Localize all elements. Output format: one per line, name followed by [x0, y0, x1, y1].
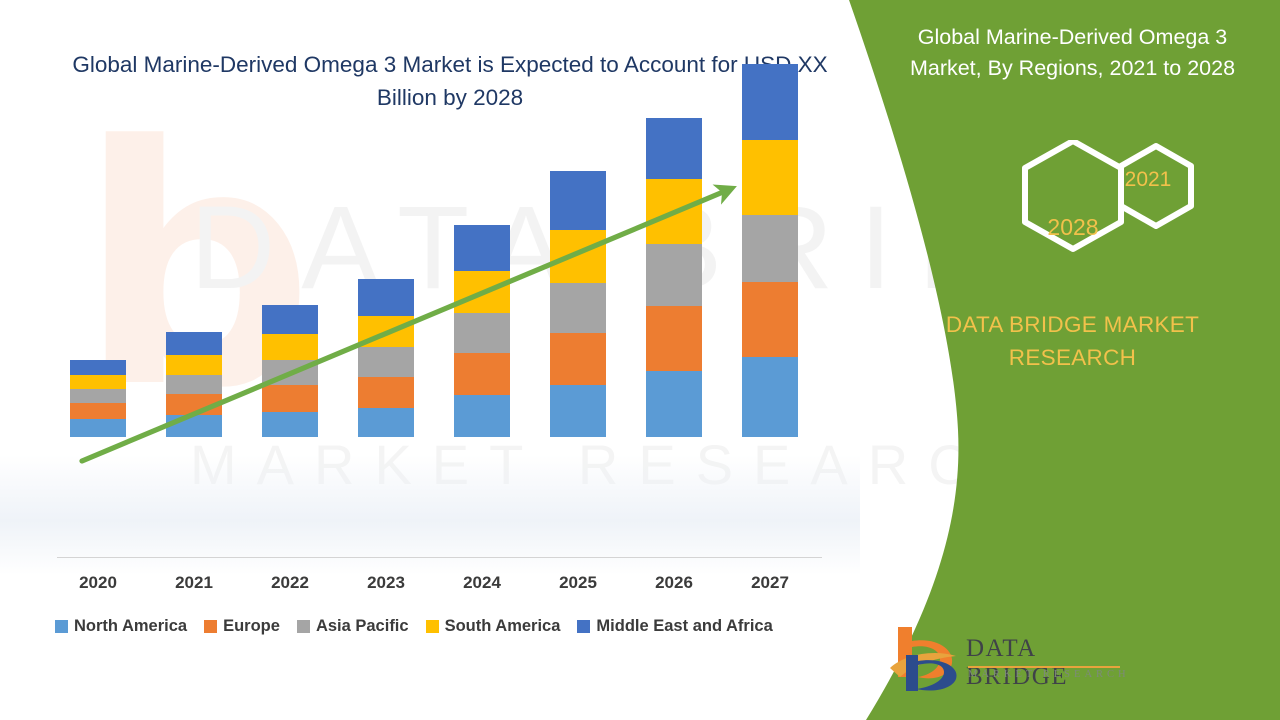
legend-label: North America	[74, 617, 187, 636]
data-bridge-logo: DATA BRIDGE MARKET RESEARCH	[888, 625, 1138, 697]
legend-item[interactable]: North America	[55, 617, 187, 636]
legend-swatch-icon	[577, 620, 590, 633]
legend-swatch-icon	[297, 620, 310, 633]
legend-label: South America	[445, 617, 561, 636]
stacked-bar-chart	[0, 0, 860, 600]
x-axis-label-2026: 2026	[629, 573, 719, 593]
x-axis-label-2027: 2027	[725, 573, 815, 593]
legend-item[interactable]: Europe	[204, 617, 280, 636]
right-panel-title: Global Marine-Derived Omega 3 Market, By…	[885, 22, 1260, 84]
legend-item[interactable]: Asia Pacific	[297, 617, 409, 636]
right-panel: Global Marine-Derived Omega 3 Market, By…	[860, 0, 1280, 720]
x-axis-label-2025: 2025	[533, 573, 623, 593]
x-axis-label-2020: 2020	[53, 573, 143, 593]
legend-swatch-icon	[204, 620, 217, 633]
chart-legend: North AmericaEuropeAsia PacificSouth Ame…	[55, 617, 773, 636]
legend-label: Asia Pacific	[316, 617, 409, 636]
x-axis-label-2021: 2021	[149, 573, 239, 593]
legend-item[interactable]: Middle East and Africa	[577, 617, 772, 636]
legend-label: Europe	[223, 617, 280, 636]
legend-item[interactable]: South America	[426, 617, 561, 636]
left-panel: Global Marine-Derived Omega 3 Market is …	[0, 0, 860, 720]
logo-wordmark: DATA BRIDGE	[966, 635, 1138, 691]
logo-divider	[968, 666, 1120, 668]
logo-mark-icon	[888, 625, 964, 693]
x-axis-label-2022: 2022	[245, 573, 335, 593]
hexagon-2028-label: 2028	[1028, 214, 1118, 241]
legend-label: Middle East and Africa	[596, 617, 772, 636]
legend-swatch-icon	[426, 620, 439, 633]
hexagon-2021-label: 2021	[1103, 168, 1193, 192]
hexagon-group: 2028 2021	[875, 140, 1265, 275]
legend-swatch-icon	[55, 620, 68, 633]
logo-tagline: MARKET RESEARCH	[968, 669, 1130, 680]
x-axis-label-2024: 2024	[437, 573, 527, 593]
x-axis-label-2023: 2023	[341, 573, 431, 593]
x-axis-labels: 20202021202220232024202520262027	[0, 573, 860, 603]
growth-arrow-icon	[0, 0, 860, 600]
brand-name-text: DATA BRIDGE MARKET RESEARCH	[880, 308, 1265, 374]
